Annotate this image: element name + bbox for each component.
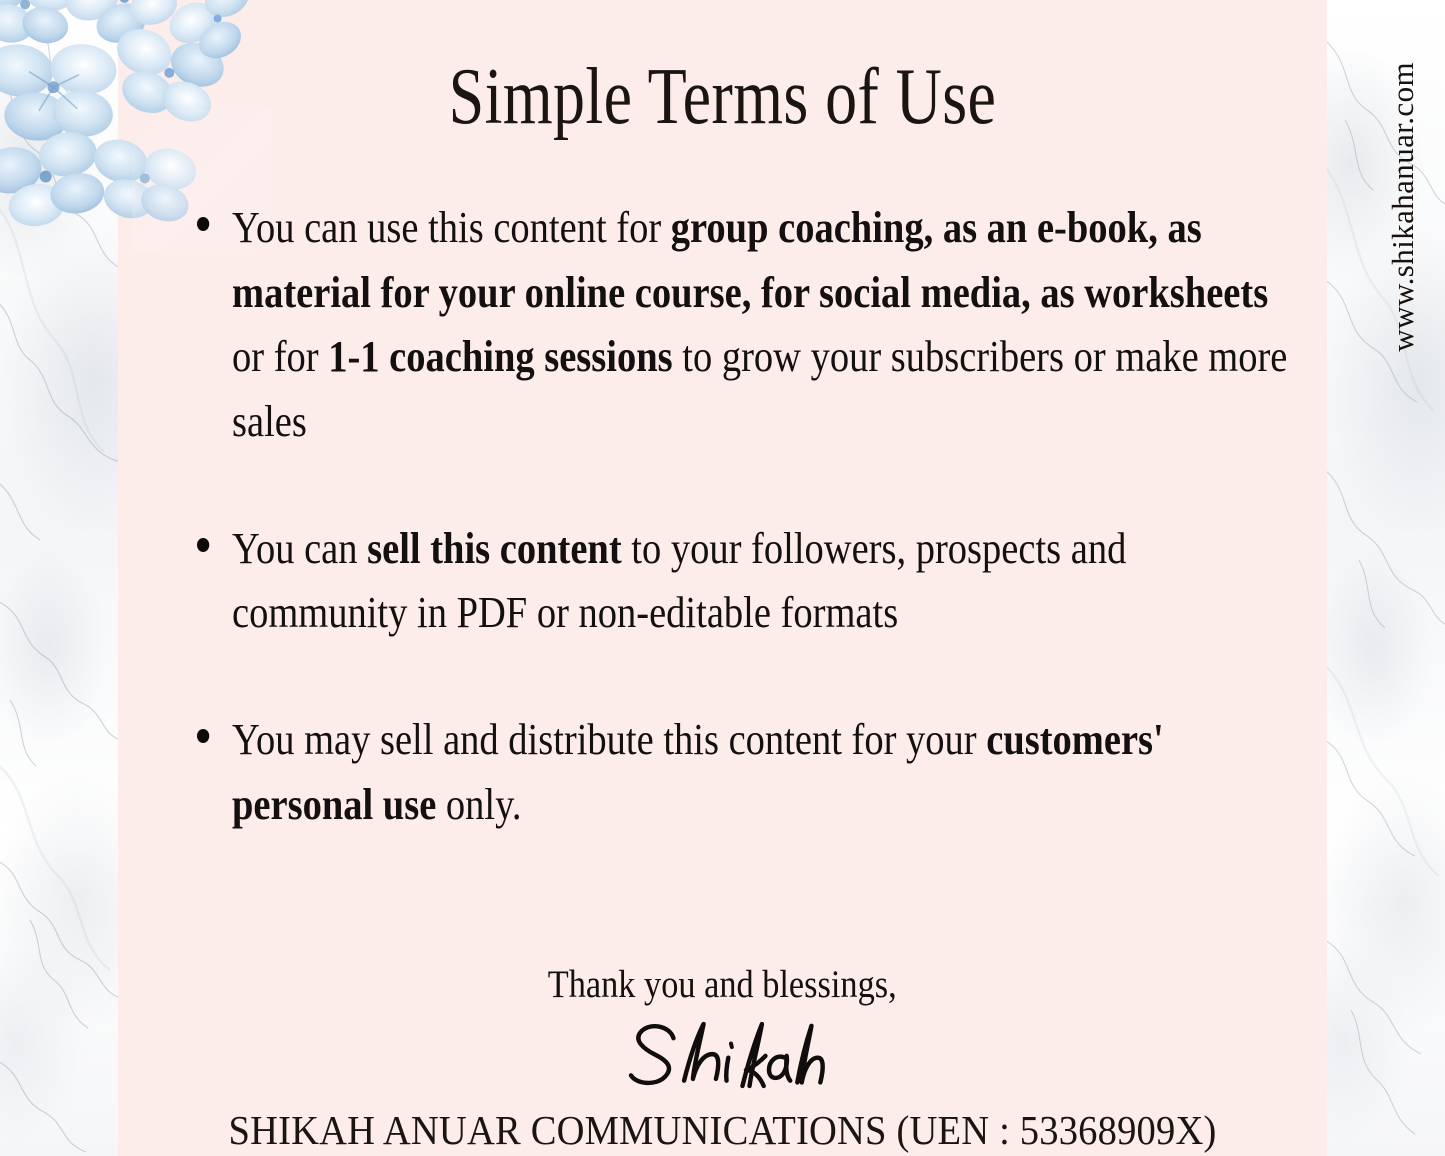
signoff-message: Thank you and blessings, bbox=[548, 962, 897, 1008]
plain-text: only. bbox=[436, 780, 521, 829]
handwritten-signature-icon bbox=[608, 1012, 838, 1098]
page-title: Simple Terms of Use bbox=[239, 56, 1206, 139]
footer-company-line: SHIKAH ANUAR COMMUNICATIONS (UEN : 53368… bbox=[154, 1106, 1290, 1155]
list-item: You can use this content for group coach… bbox=[190, 196, 1308, 455]
terms-of-use-page: Simple Terms of Use You can use this con… bbox=[0, 0, 1445, 1156]
document-content: Simple Terms of Use You can use this con… bbox=[118, 0, 1327, 1156]
term-text: You can use this content for group coach… bbox=[232, 203, 1287, 446]
bullet-dot-icon bbox=[197, 217, 209, 231]
website-url-vertical[interactable]: www.shikahanuar.com bbox=[1385, 62, 1421, 352]
signoff-block: Thank you and blessings, bbox=[118, 962, 1327, 1008]
list-item: You may sell and distribute this content… bbox=[190, 708, 1308, 837]
plain-text: You can use this content for bbox=[232, 203, 671, 252]
marble-band-left bbox=[0, 0, 120, 1156]
emphasis-text: sell this content bbox=[367, 524, 622, 573]
signature-block bbox=[118, 1012, 1327, 1098]
bullet-dot-icon bbox=[197, 729, 209, 743]
plain-text: or for bbox=[232, 332, 328, 381]
bullet-dot-icon bbox=[197, 538, 209, 552]
terms-list: You can use this content for group coach… bbox=[190, 152, 1305, 837]
plain-text: You can bbox=[232, 524, 367, 573]
emphasis-text: 1-1 coaching sessions bbox=[328, 332, 672, 381]
term-text: You can sell this content to your follow… bbox=[232, 524, 1126, 638]
term-text: You may sell and distribute this content… bbox=[232, 715, 1164, 829]
plain-text: You may sell and distribute this content… bbox=[232, 715, 986, 764]
list-item: You can sell this content to your follow… bbox=[190, 517, 1308, 646]
marble-vein-texture-left bbox=[0, 0, 120, 1156]
